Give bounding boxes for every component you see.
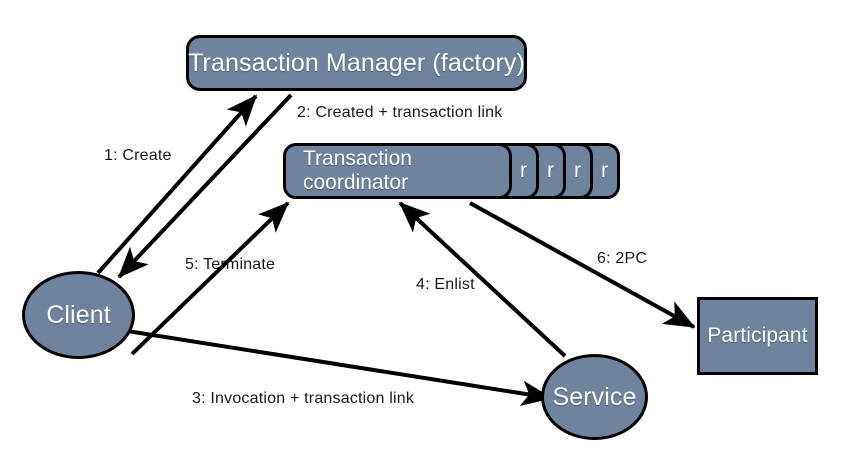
diagram-canvas: Transaction Manager (factory) r r r r Tr… [0, 0, 848, 469]
edge-label-3-invocation: 3: Invocation + transaction link [192, 390, 414, 408]
edge-2-created [119, 95, 291, 277]
node-transaction-coordinator[interactable]: Transaction coordinator [283, 143, 512, 199]
coordinator-stack-layer-2-label: r [520, 159, 527, 183]
edge-label-2-created: 2: Created + transaction link [297, 104, 502, 122]
node-client-label: Client [46, 301, 111, 330]
node-transaction-coordinator-label: Transaction coordinator [303, 147, 509, 195]
node-participant[interactable]: Participant [697, 297, 818, 375]
coordinator-stack-layer-4-label: r [574, 159, 581, 183]
node-participant-label: Participant [707, 324, 807, 348]
node-transaction-manager-label: Transaction Manager (factory) [188, 49, 525, 78]
coordinator-stack-layer-3-label: r [547, 159, 554, 183]
node-service[interactable]: Service [541, 354, 648, 440]
node-transaction-coordinator-stack[interactable]: r r r r Transaction coordinator [283, 143, 620, 199]
edge-3-invocation [127, 331, 551, 398]
edge-label-5-terminate: 5: Terminate [185, 256, 275, 274]
edge-label-6-2pc: 6: 2PC [597, 250, 647, 268]
node-service-label: Service [552, 383, 636, 412]
node-client[interactable]: Client [22, 271, 135, 359]
node-transaction-manager[interactable]: Transaction Manager (factory) [186, 35, 527, 91]
edge-label-4-enlist: 4: Enlist [416, 276, 475, 294]
edge-1-create [98, 96, 256, 273]
edge-5-terminate [132, 203, 288, 354]
edge-6-2pc [470, 203, 694, 327]
coordinator-stack-layer-5-label: r [601, 159, 608, 183]
edge-label-1-create: 1: Create [104, 147, 172, 165]
